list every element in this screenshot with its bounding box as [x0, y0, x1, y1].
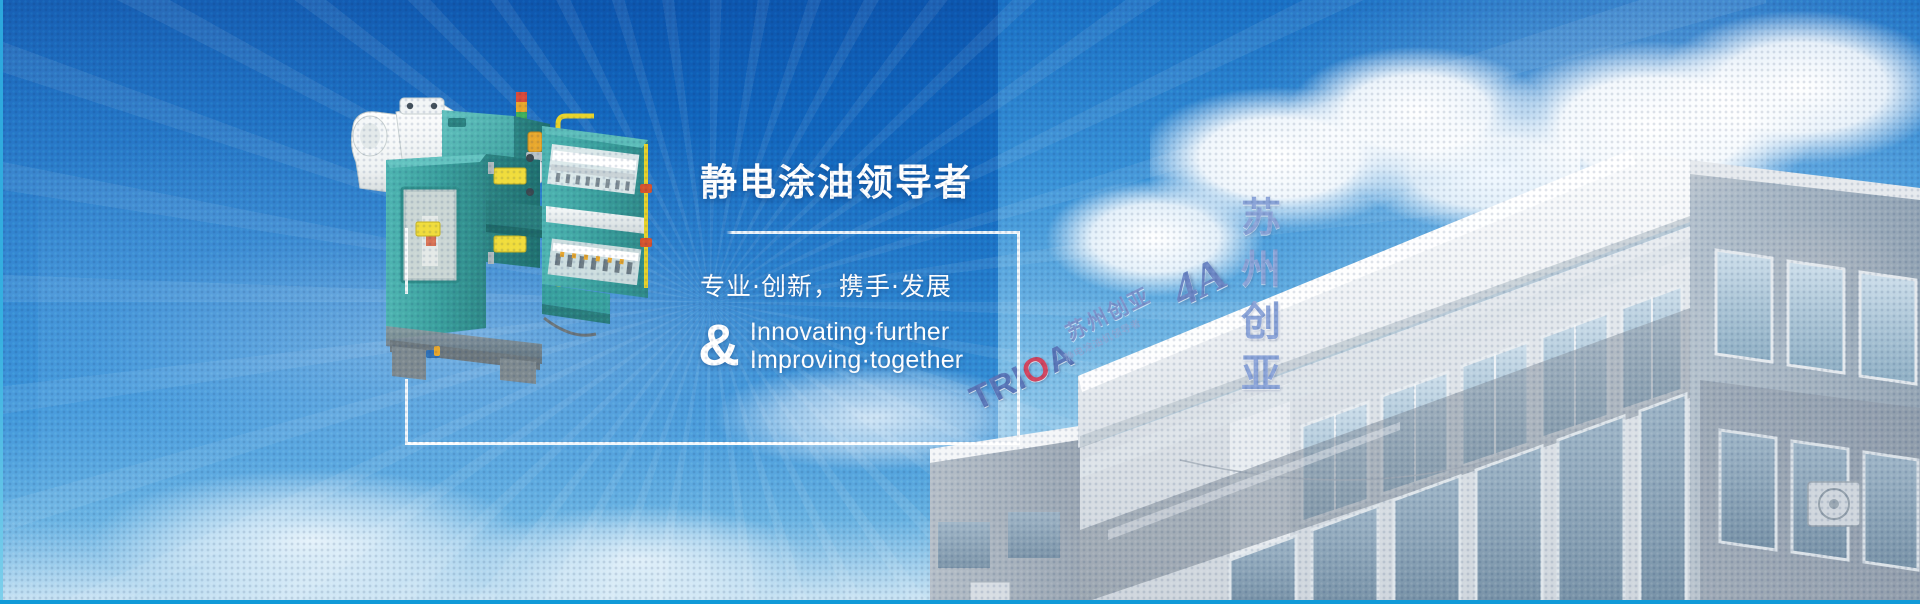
slogan-line-1: Innovating·further	[750, 318, 963, 346]
hero-banner: TRIOA 苏州创亚 静电涂油机领导者 4A 苏州创亚	[0, 0, 1920, 604]
building-vertical-sign: 苏州创亚	[1232, 196, 1282, 404]
page-title: 静电涂油领导者	[700, 152, 973, 206]
bottom-accent-rule	[0, 600, 1920, 604]
product-machine-image	[330, 88, 710, 388]
left-accent-rule	[0, 0, 3, 604]
tagline-chinese: 专业·创新，携手·发展	[700, 267, 952, 303]
slogan-block: & Innovating·further Improving·together	[698, 318, 963, 374]
slogan-line-2: Improving·together	[750, 346, 963, 374]
ampersand-icon: &	[698, 320, 740, 372]
slogan-lines: Innovating·further Improving·together	[750, 318, 963, 374]
electrostatic-oiler-illustration	[330, 88, 710, 388]
